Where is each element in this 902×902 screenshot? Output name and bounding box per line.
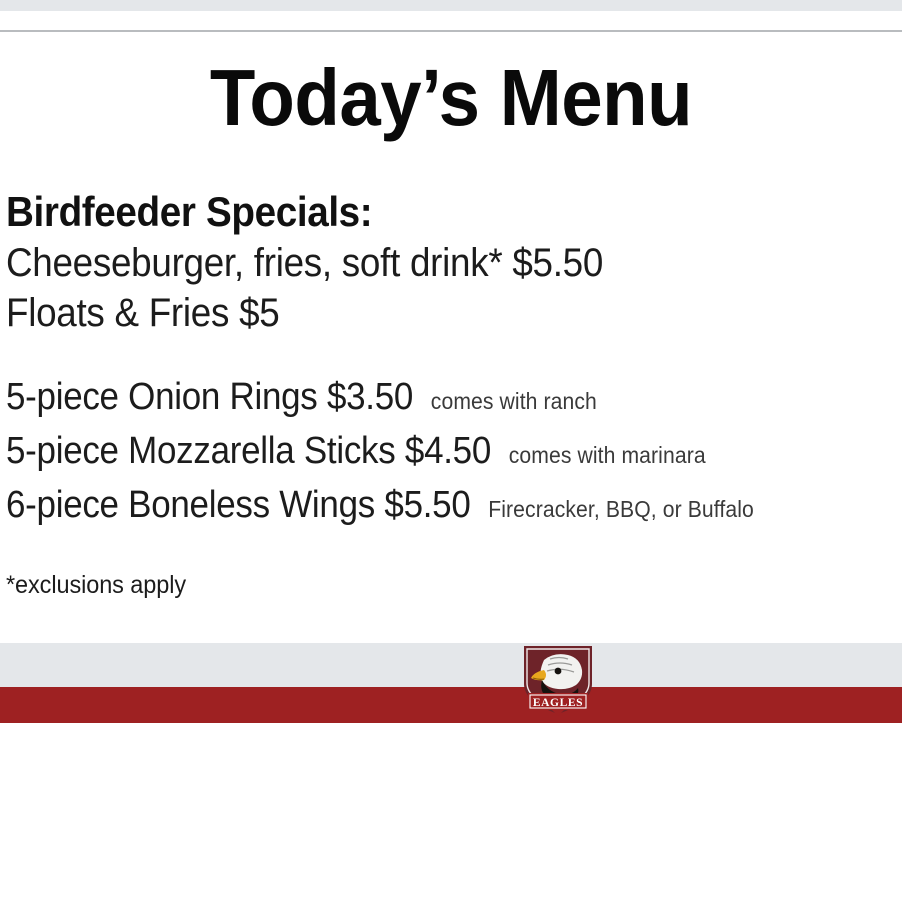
menu-item-boneless-wings: 6-piece Boneless Wings $5.50 Firecracker…	[6, 480, 821, 534]
menu-item-note: comes with marinara	[500, 442, 705, 468]
menu-item-name: 5-piece Onion Rings	[6, 376, 318, 418]
eagles-logo: EAGLES	[514, 644, 602, 718]
menu-item-name: 6-piece Boneless Wings	[6, 484, 375, 526]
menu-item-mozzarella-sticks: 5-piece Mozzarella Sticks $4.50 comes wi…	[6, 426, 821, 480]
banner-text: EAGLES	[533, 697, 583, 709]
section-heading-birdfeeder-specials: Birdfeeder Specials:	[6, 186, 821, 238]
menu-item-price: $5.50	[384, 484, 470, 526]
menu-item-note: Firecracker, BBQ, or Buffalo	[480, 496, 754, 522]
page-title: Today’s Menu	[32, 50, 871, 146]
eagle-eye	[555, 668, 562, 675]
footer-bottom-area	[0, 723, 902, 902]
special-line-cheeseburger: Cheeseburger, fries, soft drink* $5.50	[6, 238, 821, 288]
section-spacer	[6, 338, 892, 372]
menu-item-price: $3.50	[327, 376, 413, 418]
menu-card: Today’s Menu Birdfeeder Specials: Cheese…	[0, 32, 902, 642]
menu-item-name: 5-piece Mozzarella Sticks	[6, 430, 395, 472]
menu-item-price: $4.50	[405, 430, 491, 472]
top-gray-strip	[0, 0, 902, 11]
footer-gray-band	[0, 643, 902, 687]
menu-item-onion-rings: 5-piece Onion Rings $3.50 comes with ran…	[6, 372, 821, 426]
exclusions-footnote: *exclusions apply	[6, 568, 839, 602]
menu-body: Birdfeeder Specials: Cheeseburger, fries…	[0, 186, 902, 602]
special-line-floats-fries: Floats & Fries $5	[6, 288, 821, 338]
menu-item-note: comes with ranch	[423, 388, 597, 414]
footer-red-band	[0, 687, 902, 723]
